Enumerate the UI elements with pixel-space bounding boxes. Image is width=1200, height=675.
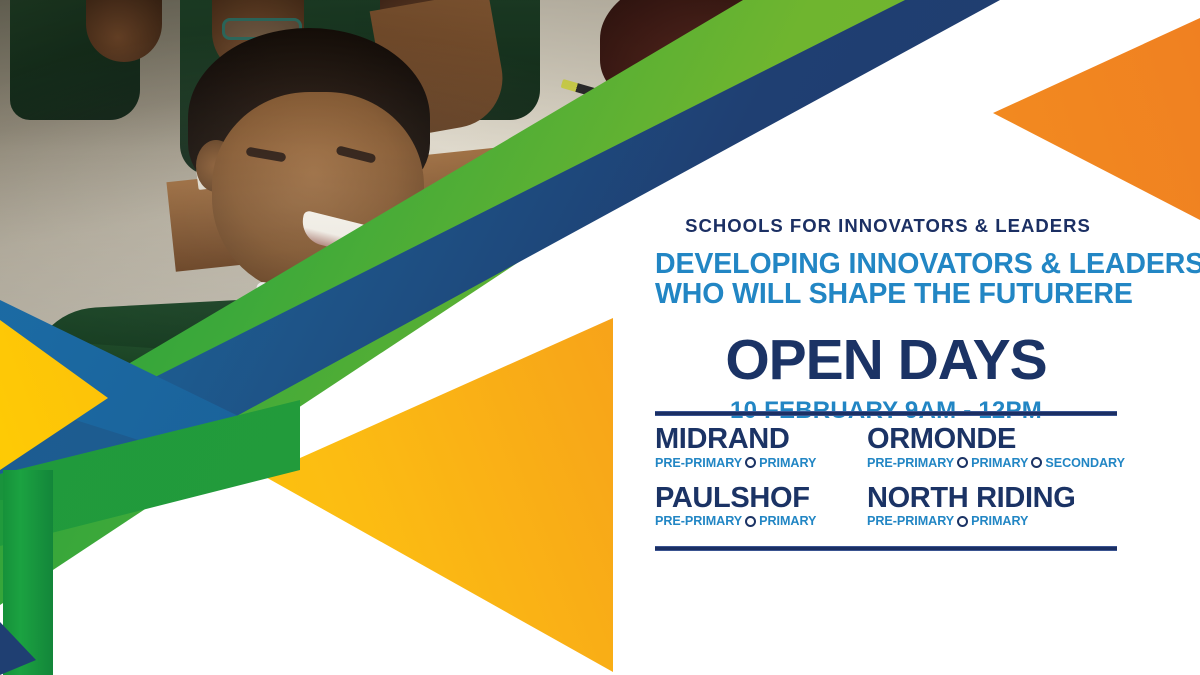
program-label: PRE-PRIMARY — [867, 456, 954, 470]
program-label: PRE-PRIMARY — [655, 456, 742, 470]
campus-name: MIDRAND — [655, 425, 867, 455]
campus-name: PAULSHOF — [655, 484, 867, 514]
open-days-banner: SCHOOLS FOR INNOVATORS & LEADERS DEVELOP… — [0, 0, 1200, 675]
message-block: SCHOOLS FOR INNOVATORS & LEADERS DEVELOP… — [655, 215, 1117, 425]
campus-name: NORTH RIDING — [867, 484, 1125, 514]
program-label: PRIMARY — [759, 514, 816, 528]
circle-separator-icon — [745, 457, 756, 468]
program-label: PRIMARY — [759, 456, 816, 470]
campus-programs: PRE-PRIMARYPRIMARY — [655, 456, 867, 470]
headline-line-1: DEVELOPING INNOVATORS & LEADERS — [655, 248, 1200, 280]
eyebrow-tagline: SCHOOLS FOR INNOVATORS & LEADERS — [659, 215, 1117, 237]
program-label: PRE-PRIMARY — [867, 514, 954, 528]
campus-programs: PRE-PRIMARYPRIMARY — [867, 514, 1125, 528]
campus-programs: PRE-PRIMARYPRIMARYSECONDARY — [867, 456, 1125, 470]
campus-item[interactable]: PAULSHOFPRE-PRIMARYPRIMARY — [655, 484, 867, 529]
circle-separator-icon — [957, 457, 968, 468]
program-label: PRIMARY — [971, 514, 1028, 528]
headline-line-2: WHO WILL SHAPE THE FUTURERE — [655, 279, 1117, 309]
circle-separator-icon — [745, 516, 756, 527]
campus-item[interactable]: NORTH RIDINGPRE-PRIMARYPRIMARY — [867, 484, 1125, 529]
campus-programs: PRE-PRIMARYPRIMARY — [655, 514, 867, 528]
divider-top — [655, 411, 1117, 416]
event-title: OPEN DAYS — [655, 332, 1117, 389]
headline: DEVELOPING INNOVATORS & LEADERS WHO WILL… — [655, 249, 1117, 310]
campus-name: ORMONDE — [867, 425, 1125, 455]
circle-separator-icon — [957, 516, 968, 527]
campus-item[interactable]: MIDRANDPRE-PRIMARYPRIMARY — [655, 425, 867, 470]
program-label: PRIMARY — [971, 456, 1028, 470]
program-label: SECONDARY — [1045, 456, 1125, 470]
campus-item[interactable]: ORMONDEPRE-PRIMARYPRIMARYSECONDARY — [867, 425, 1125, 470]
circle-separator-icon — [1031, 457, 1042, 468]
campus-list: MIDRANDPRE-PRIMARYPRIMARYORMONDEPRE-PRIM… — [655, 425, 1125, 528]
program-label: PRE-PRIMARY — [655, 514, 742, 528]
divider-bottom — [655, 546, 1117, 551]
